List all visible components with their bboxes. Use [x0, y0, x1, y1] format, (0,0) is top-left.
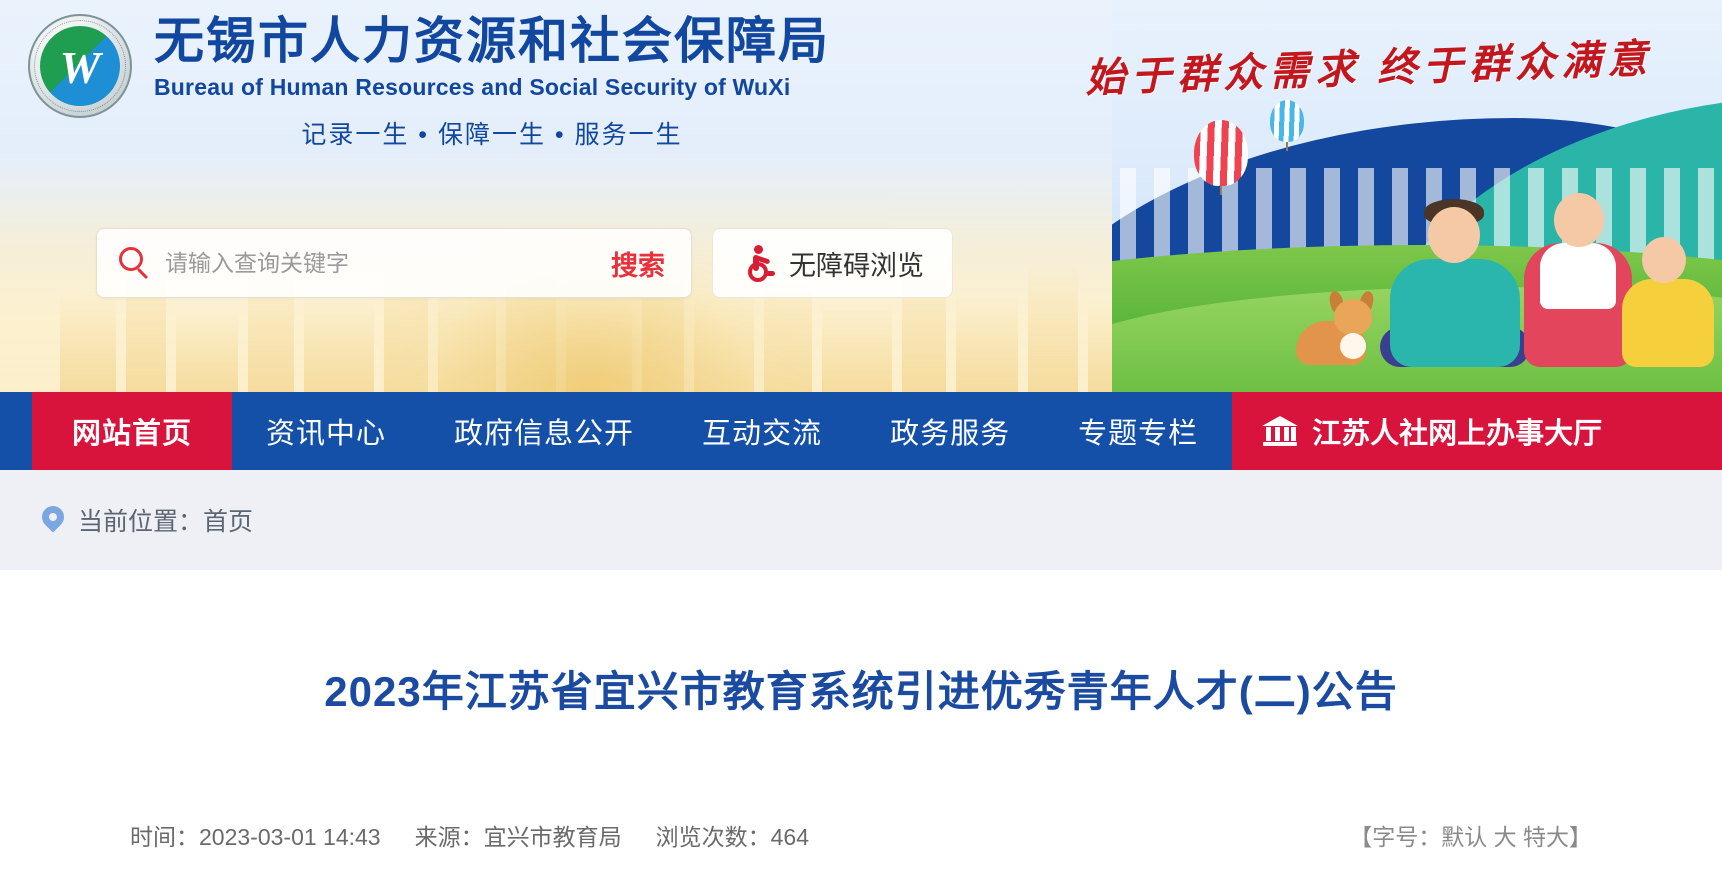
- search-button[interactable]: 搜索: [607, 244, 669, 283]
- font-size-prefix: 【字号：: [1349, 824, 1441, 850]
- search-input[interactable]: [165, 250, 607, 277]
- search-icon: [119, 247, 151, 279]
- article-meta-left: 时间：2023-03-01 14:43 来源：宜兴市教育局 浏览次数：464: [130, 818, 809, 852]
- page-root: W 无锡市人力资源和社会保障局 Bureau of Human Resource…: [0, 0, 1722, 872]
- location-pin-icon: [42, 506, 64, 534]
- site-title-en: Bureau of Human Resources and Social Sec…: [154, 74, 830, 101]
- nav-item-government-disclosure[interactable]: 政府信息公开: [420, 392, 668, 470]
- breadcrumb[interactable]: 当前位置：首页: [42, 502, 253, 538]
- hot-air-balloon-icon: [1194, 120, 1248, 186]
- site-title-cn: 无锡市人力资源和社会保障局: [154, 14, 830, 68]
- hot-air-balloon-small-icon: [1270, 100, 1304, 142]
- article-meta: 时间：2023-03-01 14:43 来源：宜兴市教育局 浏览次数：464 【…: [0, 818, 1722, 852]
- bureau-emblem-icon: W: [28, 14, 132, 118]
- font-size-large[interactable]: 大: [1494, 824, 1517, 850]
- site-banner: W 无锡市人力资源和社会保障局 Bureau of Human Resource…: [0, 0, 1722, 395]
- font-size-controls: 【字号：默认 大 特大】: [1349, 818, 1592, 852]
- main-navigation: 网站首页 资讯中心 政府信息公开 互动交流 政务服务 专题专栏 江苏人社网上办事…: [0, 392, 1722, 470]
- search-box[interactable]: 搜索: [96, 228, 692, 298]
- nav-online-service-hall[interactable]: 江苏人社网上办事大厅: [1232, 392, 1722, 470]
- breadcrumb-bar: 当前位置：首页: [0, 470, 1722, 570]
- font-size-suffix: 】: [1569, 824, 1592, 850]
- article-section: 2023年江苏省宜兴市教育系统引进优秀青年人才(二)公告 时间：2023-03-…: [0, 570, 1722, 872]
- article-time: 时间：2023-03-01 14:43: [130, 818, 381, 852]
- site-logo[interactable]: W 无锡市人力资源和社会保障局 Bureau of Human Resource…: [28, 14, 830, 151]
- nav-item-home[interactable]: 网站首页: [32, 392, 232, 470]
- nav-item-special-columns[interactable]: 专题专栏: [1044, 392, 1232, 470]
- accessibility-button[interactable]: 无障碍浏览: [712, 228, 953, 298]
- search-row: 搜索 无障碍浏览: [96, 228, 953, 298]
- nav-items: 网站首页 资讯中心 政府信息公开 互动交流 政务服务 专题专栏: [0, 392, 1232, 470]
- breadcrumb-text: 当前位置：首页: [78, 502, 253, 538]
- font-size-default[interactable]: 默认: [1441, 824, 1487, 850]
- nav-item-news-center[interactable]: 资讯中心: [232, 392, 420, 470]
- font-size-xlarge[interactable]: 特大: [1523, 824, 1569, 850]
- father-illustration: [1380, 177, 1530, 367]
- wheelchair-icon: [741, 245, 775, 281]
- nav-item-interaction[interactable]: 互动交流: [668, 392, 856, 470]
- nav-item-government-services[interactable]: 政务服务: [856, 392, 1044, 470]
- child-illustration: [1612, 217, 1722, 367]
- dog-illustration: [1290, 293, 1372, 365]
- accessibility-label: 无障碍浏览: [789, 244, 924, 283]
- bank-icon: [1262, 416, 1298, 446]
- nav-online-service-hall-label: 江苏人社网上办事大厅: [1312, 410, 1602, 452]
- article-source: 来源：宜兴市教育局: [415, 818, 622, 852]
- article-views: 浏览次数：464: [656, 818, 809, 852]
- article-title: 2023年江苏省宜兴市教育系统引进优秀青年人才(二)公告: [120, 666, 1602, 719]
- site-slogan: 记录一生 • 保障一生 • 服务一生: [154, 115, 830, 151]
